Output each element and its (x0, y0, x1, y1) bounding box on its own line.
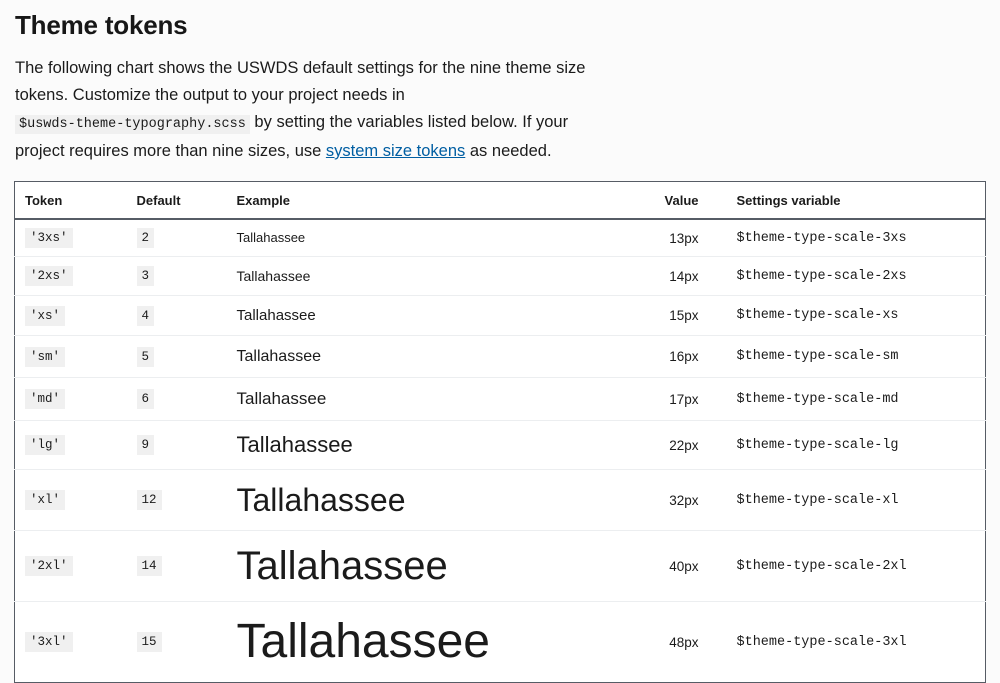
cell-token: '3xs' (15, 219, 119, 257)
cell-token: 'xl' (15, 470, 119, 531)
cell-example: Tallahassee (219, 378, 619, 421)
example-specimen-text: Tallahassee (237, 542, 609, 591)
cell-default: 4 (119, 296, 219, 336)
cell-settings-variable: $theme-type-scale-3xl (715, 602, 986, 683)
cell-value: 14px (619, 257, 715, 296)
cell-default: 5 (119, 336, 219, 378)
token-chip: '3xs' (25, 228, 73, 248)
cell-default: 2 (119, 219, 219, 257)
table-row: 'xl'12Tallahassee32px$theme-type-scale-x… (15, 470, 986, 531)
default-chip: 15 (137, 632, 162, 652)
cell-example: Tallahassee (219, 219, 619, 257)
cell-example: Tallahassee (219, 257, 619, 296)
example-specimen-text: Tallahassee (237, 389, 609, 410)
cell-example: Tallahassee (219, 296, 619, 336)
table-row: 'sm'5Tallahassee16px$theme-type-scale-sm (15, 336, 986, 378)
token-chip: 'sm' (25, 347, 65, 367)
cell-default: 6 (119, 378, 219, 421)
cell-default: 9 (119, 421, 219, 470)
intro-text-part-1: The following chart shows the USWDS defa… (15, 59, 585, 104)
token-chip: '2xl' (25, 556, 73, 576)
theme-tokens-table: Token Default Example Value Settings var… (14, 181, 986, 683)
cell-default: 3 (119, 257, 219, 296)
cell-example: Tallahassee (219, 531, 619, 602)
example-specimen-text: Tallahassee (237, 268, 609, 285)
cell-settings-variable: $theme-type-scale-md (715, 378, 986, 421)
cell-example: Tallahassee (219, 470, 619, 531)
default-chip: 6 (137, 389, 155, 409)
column-header-default: Default (119, 181, 219, 219)
cell-value: 40px (619, 531, 715, 602)
default-chip: 12 (137, 490, 162, 510)
example-specimen-text: Tallahassee (237, 613, 609, 672)
default-chip: 3 (137, 266, 155, 286)
theme-tokens-table-wrapper: Token Default Example Value Settings var… (14, 181, 986, 683)
cell-token: '3xl' (15, 602, 119, 683)
default-chip: 2 (137, 228, 155, 248)
cell-token: 'lg' (15, 421, 119, 470)
column-header-token: Token (15, 181, 119, 219)
cell-value: 17px (619, 378, 715, 421)
example-specimen-text: Tallahassee (237, 230, 609, 246)
cell-token: 'xs' (15, 296, 119, 336)
cell-token: '2xs' (15, 257, 119, 296)
cell-default: 12 (119, 470, 219, 531)
cell-value: 48px (619, 602, 715, 683)
example-specimen-text: Tallahassee (237, 307, 609, 325)
table-row: 'xs'4Tallahassee15px$theme-type-scale-xs (15, 296, 986, 336)
example-specimen-text: Tallahassee (237, 347, 609, 367)
token-chip: 'xs' (25, 306, 65, 326)
cell-settings-variable: $theme-type-scale-xl (715, 470, 986, 531)
column-header-value: Value (619, 181, 715, 219)
cell-default: 14 (119, 531, 219, 602)
table-header-row: Token Default Example Value Settings var… (15, 181, 986, 219)
token-chip: '3xl' (25, 632, 73, 652)
intro-text-part-3: as needed. (465, 142, 551, 160)
documentation-page: Theme tokens The following chart shows t… (0, 11, 1000, 683)
table-row: '3xl'15Tallahassee48px$theme-type-scale-… (15, 602, 986, 683)
cell-value: 22px (619, 421, 715, 470)
table-header: Token Default Example Value Settings var… (15, 181, 986, 219)
table-row: 'lg'9Tallahassee22px$theme-type-scale-lg (15, 421, 986, 470)
cell-value: 16px (619, 336, 715, 378)
intro-paragraph: The following chart shows the USWDS defa… (15, 55, 615, 165)
token-chip: 'xl' (25, 490, 65, 510)
table-body: '3xs'2Tallahassee13px$theme-type-scale-3… (15, 219, 986, 683)
cell-default: 15 (119, 602, 219, 683)
default-chip: 4 (137, 306, 155, 326)
system-size-tokens-link[interactable]: system size tokens (326, 142, 465, 160)
token-chip: 'lg' (25, 435, 65, 455)
cell-value: 32px (619, 470, 715, 531)
table-row: '2xl'14Tallahassee40px$theme-type-scale-… (15, 531, 986, 602)
table-row: 'md'6Tallahassee17px$theme-type-scale-md (15, 378, 986, 421)
cell-value: 15px (619, 296, 715, 336)
table-row: '2xs'3Tallahassee14px$theme-type-scale-2… (15, 257, 986, 296)
cell-example: Tallahassee (219, 336, 619, 378)
cell-settings-variable: $theme-type-scale-2xl (715, 531, 986, 602)
scss-file-code: $uswds-theme-typography.scss (15, 115, 250, 134)
cell-example: Tallahassee (219, 421, 619, 470)
cell-token: '2xl' (15, 531, 119, 602)
default-chip: 14 (137, 556, 162, 576)
column-header-settings-variable: Settings variable (715, 181, 986, 219)
page-title: Theme tokens (15, 11, 986, 41)
token-chip: 'md' (25, 389, 65, 409)
token-chip: '2xs' (25, 266, 73, 286)
default-chip: 5 (137, 347, 155, 367)
default-chip: 9 (137, 435, 155, 455)
cell-example: Tallahassee (219, 602, 619, 683)
cell-settings-variable: $theme-type-scale-sm (715, 336, 986, 378)
cell-settings-variable: $theme-type-scale-lg (715, 421, 986, 470)
cell-value: 13px (619, 219, 715, 257)
cell-token: 'sm' (15, 336, 119, 378)
example-specimen-text: Tallahassee (237, 432, 609, 459)
column-header-example: Example (219, 181, 619, 219)
table-row: '3xs'2Tallahassee13px$theme-type-scale-3… (15, 219, 986, 257)
cell-settings-variable: $theme-type-scale-xs (715, 296, 986, 336)
cell-token: 'md' (15, 378, 119, 421)
cell-settings-variable: $theme-type-scale-2xs (715, 257, 986, 296)
example-specimen-text: Tallahassee (237, 481, 609, 520)
cell-settings-variable: $theme-type-scale-3xs (715, 219, 986, 257)
